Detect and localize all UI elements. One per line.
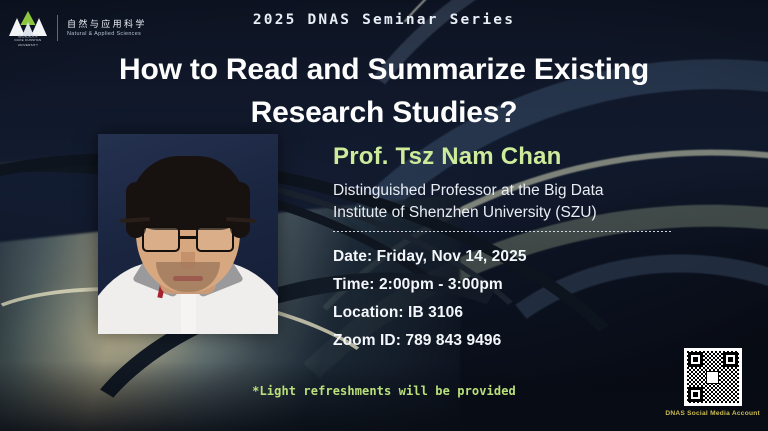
title-line-1: How to Read and Summarize Existing [64, 48, 704, 91]
page-title: How to Read and Summarize Existing Resea… [64, 48, 704, 134]
section-divider [333, 231, 671, 232]
refreshments-note: *Light refreshments will be provided [0, 384, 768, 398]
detail-zoom-id: Zoom ID: 789 843 9496 [333, 327, 527, 355]
speaker-affiliation: Distinguished Professor at the Big Data … [333, 180, 604, 224]
qr-center-logo [706, 371, 719, 384]
photo-eyeglasses [142, 226, 234, 252]
event-details: Date: Friday, Nov 14, 2025 Time: 2:00pm … [333, 243, 527, 355]
detail-date: Date: Friday, Nov 14, 2025 [333, 243, 527, 271]
photo-nose [181, 252, 195, 270]
photo-glasses-bridge [180, 236, 196, 239]
series-label: 2025 DNAS Seminar Series [0, 12, 768, 28]
qr-caption: DNAS Social Media Account [665, 410, 760, 417]
qr-eye-top-left [688, 352, 703, 367]
detail-time: Time: 2:00pm - 3:00pm [333, 271, 527, 299]
social-media-qr-block: DNAS Social Media Account [665, 348, 760, 417]
affiliation-line-1: Distinguished Professor at the Big Data [333, 180, 604, 202]
speaker-name: Prof. Tsz Nam Chan [333, 143, 562, 171]
logo-mark-caption: 昆山杜克大学 DUKE KUNSHAN UNIVERSITY [8, 34, 48, 47]
affiliation-line-2: Institute of Shenzhen University (SZU) [333, 202, 604, 224]
school-name-en: Natural & Applied Sciences [67, 30, 147, 38]
photo-mouth [173, 276, 203, 281]
title-line-2: Research Studies? [64, 91, 704, 134]
qr-pattern [687, 351, 739, 403]
qr-eye-top-right [723, 352, 738, 367]
seminar-poster: 昆山杜克大学 DUKE KUNSHAN UNIVERSITY 自然与应用科学 N… [0, 0, 768, 431]
qr-eye-bottom-left [688, 387, 703, 402]
qr-code-icon[interactable] [684, 348, 742, 406]
detail-location: Location: IB 3106 [333, 299, 527, 327]
speaker-photo [98, 134, 278, 334]
photo-lens-left [142, 226, 180, 252]
photo-lens-right [196, 226, 234, 252]
